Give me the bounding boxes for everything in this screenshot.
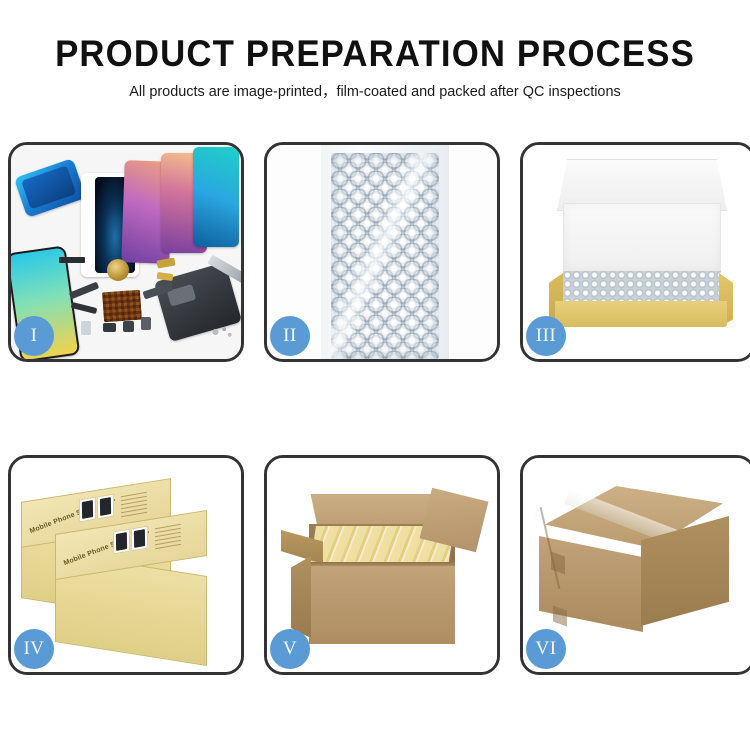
process-step-panel-4: Mobile Phone Spare Parts Mobile Phone Sp… [8, 455, 244, 675]
teal-gradient-phone-screen [193, 147, 239, 247]
process-step-panel-2: II [264, 142, 500, 362]
copper-coil-part [107, 259, 129, 281]
box-phone-artwork [131, 526, 148, 552]
box-phone-artwork [113, 529, 130, 555]
blue-adhesive-screen [14, 158, 86, 218]
page-subtitle: All products are image-printed，film-coat… [4, 83, 747, 101]
box-phone-artwork [79, 497, 96, 523]
carton-front-wall [309, 566, 455, 644]
chip-grid-part [102, 290, 142, 323]
box-checklist [121, 492, 147, 520]
step-badge-5: V [270, 629, 310, 669]
small-component-part [141, 317, 151, 330]
box-phone-artwork [97, 494, 114, 520]
process-step-grid: I II III [8, 142, 742, 677]
small-component-part [103, 323, 116, 332]
bubble-wrap-highlight [331, 153, 439, 359]
carton-left-wall [291, 556, 311, 638]
page-title: PRODUCT PREPARATION PROCESS [23, 34, 728, 74]
gold-connector-part [156, 257, 175, 268]
step-badge-4: IV [14, 629, 54, 669]
process-step-panel-3: III [520, 142, 750, 362]
white-foam-sheet [563, 203, 721, 273]
flex-cable-part [71, 302, 98, 314]
box-checklist [155, 524, 181, 552]
process-step-panel-1: I [8, 142, 244, 362]
step-badge-2: II [270, 316, 310, 356]
process-step-panel-6: VI [520, 455, 750, 675]
small-component-part [123, 321, 134, 332]
antenna-strip-part [59, 257, 85, 263]
process-step-panel-5: V [264, 455, 500, 675]
small-component-part [81, 321, 91, 335]
bubble-wrap-contents [563, 271, 721, 303]
step-badge-3: III [526, 316, 566, 356]
box-front-wall [555, 301, 727, 327]
header: PRODUCT PREPARATION PROCESS All products… [0, 0, 750, 101]
screws-group [211, 325, 233, 339]
step-badge-1: I [14, 316, 54, 356]
product-preparation-infographic: PRODUCT PREPARATION PROCESS All products… [0, 0, 750, 750]
flex-cable-part [69, 282, 99, 300]
step-badge-6: VI [526, 629, 566, 669]
